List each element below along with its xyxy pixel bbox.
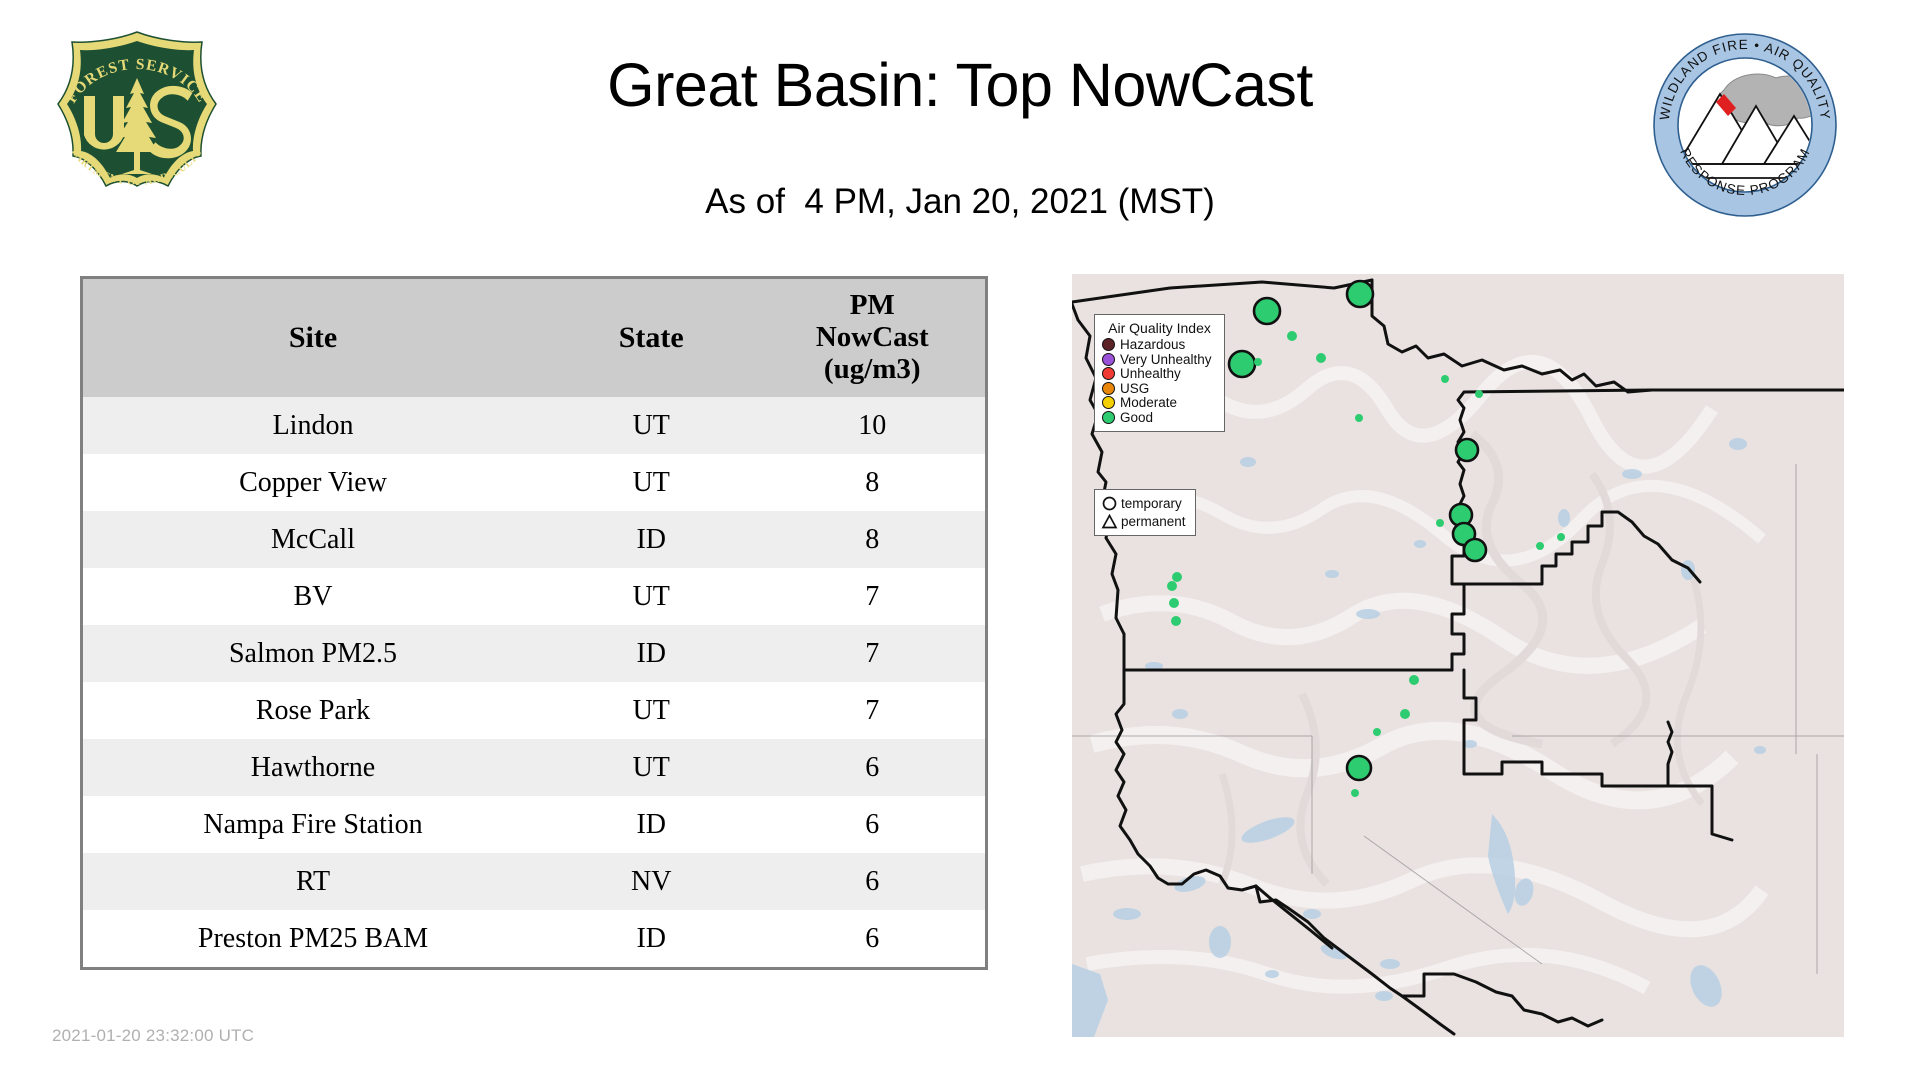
table-row: Salmon PM2.5ID7	[83, 625, 985, 682]
aqi-legend-row: Hazardous	[1102, 338, 1217, 352]
pm-nowcast-cell: 7	[759, 625, 985, 682]
aqi-legend-label: Good	[1120, 411, 1153, 425]
state-cell: UT	[543, 454, 759, 511]
monitor-point[interactable]	[1347, 281, 1373, 307]
monitor-point[interactable]	[1557, 533, 1565, 541]
monitor-point[interactable]	[1373, 728, 1381, 736]
state-cell: UT	[543, 739, 759, 796]
aqi-legend-row: Unhealthy	[1102, 367, 1217, 381]
legend-label-temporary: temporary	[1121, 497, 1182, 511]
footer-timestamp: 2021-01-20 23:32:00 UTC	[52, 1026, 254, 1046]
pm-nowcast-cell: 10	[759, 397, 985, 454]
wfaqrp-seal-icon: WILDLAND FIRE • AIR QUALITY RESPONSE PRO…	[1652, 32, 1838, 218]
monitor-point[interactable]	[1464, 539, 1486, 561]
monitor-point[interactable]	[1436, 519, 1444, 527]
aqi-swatch-icon	[1102, 353, 1115, 366]
pm-nowcast-cell: 6	[759, 853, 985, 910]
table-header: Site State PM NowCast (ug/m3)	[83, 279, 985, 397]
page-title: Great Basin: Top NowCast	[0, 55, 1920, 116]
site-cell: Hawthorne	[83, 739, 543, 796]
state-cell: UT	[543, 568, 759, 625]
monitor-point[interactable]	[1171, 616, 1181, 626]
aqi-legend-label: USG	[1120, 382, 1149, 396]
state-cell: NV	[543, 853, 759, 910]
table-header-row: Site State PM NowCast (ug/m3)	[83, 279, 985, 397]
table-row: Nampa Fire StationID6	[83, 796, 985, 853]
pm-header-line-1: PM	[759, 290, 985, 322]
aqi-swatch-icon	[1102, 396, 1115, 409]
table-row: LindonUT10	[83, 397, 985, 454]
monitor-point[interactable]	[1229, 351, 1255, 377]
pm-nowcast-cell: 7	[759, 568, 985, 625]
monitor-point[interactable]	[1347, 756, 1371, 780]
monitor-point[interactable]	[1536, 542, 1544, 550]
pm-header-line-3: (ug/m3)	[759, 354, 985, 386]
aqi-legend-label: Very Unhealthy	[1120, 353, 1212, 367]
site-cell: Preston PM25 BAM	[83, 910, 543, 967]
pm-nowcast-cell: 6	[759, 739, 985, 796]
table-row: Preston PM25 BAMID6	[83, 910, 985, 967]
site-cell: Copper View	[83, 454, 543, 511]
table-row: HawthorneUT6	[83, 739, 985, 796]
site-cell: RT	[83, 853, 543, 910]
state-cell: ID	[543, 625, 759, 682]
aqi-legend-row: Moderate	[1102, 396, 1217, 410]
site-cell: McCall	[83, 511, 543, 568]
table-body: LindonUT10Copper ViewUT8McCallID8BVUT7Sa…	[83, 397, 985, 967]
temporary-circle-icon	[1101, 495, 1118, 512]
pm-nowcast-cell: 7	[759, 682, 985, 739]
table-row: BVUT7	[83, 568, 985, 625]
legend-row-temporary: temporary	[1101, 495, 1190, 512]
monitor-point[interactable]	[1254, 358, 1262, 366]
table-row: RTNV6	[83, 853, 985, 910]
wildland-fire-air-quality-response-program-logo: WILDLAND FIRE • AIR QUALITY RESPONSE PRO…	[1652, 32, 1838, 218]
monitor-point[interactable]	[1456, 439, 1478, 461]
column-header-state: State	[543, 279, 759, 397]
site-cell: Nampa Fire Station	[83, 796, 543, 853]
aqi-legend-title: Air Quality Index	[1102, 320, 1217, 336]
monitor-point[interactable]	[1167, 581, 1177, 591]
monitor-point[interactable]	[1400, 709, 1410, 719]
pm-header-line-2: NowCast	[759, 322, 985, 354]
site-cell: Lindon	[83, 397, 543, 454]
monitor-point[interactable]	[1351, 789, 1359, 797]
monitor-point[interactable]	[1441, 375, 1449, 383]
monitor-type-legend: temporary permanent	[1094, 489, 1196, 536]
monitor-point[interactable]	[1254, 298, 1280, 324]
pm-nowcast-cell: 6	[759, 796, 985, 853]
table-row: Rose ParkUT7	[83, 682, 985, 739]
pm-nowcast-cell: 6	[759, 910, 985, 967]
aqi-legend-label: Unhealthy	[1120, 367, 1181, 381]
state-cell: ID	[543, 796, 759, 853]
monitor-point[interactable]	[1316, 353, 1326, 363]
state-cell: UT	[543, 682, 759, 739]
aqi-legend-label: Moderate	[1120, 396, 1177, 410]
monitor-point[interactable]	[1355, 414, 1363, 422]
monitor-point[interactable]	[1409, 675, 1419, 685]
nowcast-table: Site State PM NowCast (ug/m3) LindonUT10…	[83, 279, 985, 967]
aqi-legend-row: USG	[1102, 382, 1217, 396]
aqi-swatch-icon	[1102, 338, 1115, 351]
site-cell: Salmon PM2.5	[83, 625, 543, 682]
monitor-point[interactable]	[1172, 572, 1182, 582]
column-header-site: Site	[83, 279, 543, 397]
site-cell: Rose Park	[83, 682, 543, 739]
pm-nowcast-cell: 8	[759, 511, 985, 568]
page-subtitle: As of 4 PM, Jan 20, 2021 (MST)	[0, 182, 1920, 222]
table-row: Copper ViewUT8	[83, 454, 985, 511]
column-header-pm-nowcast: PM NowCast (ug/m3)	[759, 279, 985, 397]
monitor-point[interactable]	[1169, 598, 1179, 608]
aqi-legend-row: Good	[1102, 411, 1217, 425]
site-cell: BV	[83, 568, 543, 625]
legend-label-permanent: permanent	[1121, 515, 1186, 529]
state-cell: ID	[543, 910, 759, 967]
aqi-legend-row: Very Unhealthy	[1102, 353, 1217, 367]
aqi-legend: Air Quality Index HazardousVery Unhealth…	[1094, 314, 1225, 432]
permanent-triangle-icon	[1101, 513, 1118, 530]
aqi-swatch-icon	[1102, 411, 1115, 424]
nowcast-table-container: Site State PM NowCast (ug/m3) LindonUT10…	[80, 276, 988, 970]
aqi-swatch-icon	[1102, 382, 1115, 395]
aqi-legend-rows: HazardousVery UnhealthyUnhealthyUSGModer…	[1102, 338, 1217, 424]
air-quality-map[interactable]: Air Quality Index HazardousVery Unhealth…	[1072, 274, 1844, 1037]
state-cell: ID	[543, 511, 759, 568]
state-cell: UT	[543, 397, 759, 454]
monitor-point[interactable]	[1475, 390, 1483, 398]
table-row: McCallID8	[83, 511, 985, 568]
aqi-swatch-icon	[1102, 367, 1115, 380]
monitor-point[interactable]	[1287, 331, 1297, 341]
slide-root: FOREST SERVICE DEPARTMENT OF AGRICULTURE…	[0, 0, 1920, 1080]
aqi-legend-label: Hazardous	[1120, 338, 1185, 352]
pm-nowcast-cell: 8	[759, 454, 985, 511]
legend-row-permanent: permanent	[1101, 513, 1190, 530]
